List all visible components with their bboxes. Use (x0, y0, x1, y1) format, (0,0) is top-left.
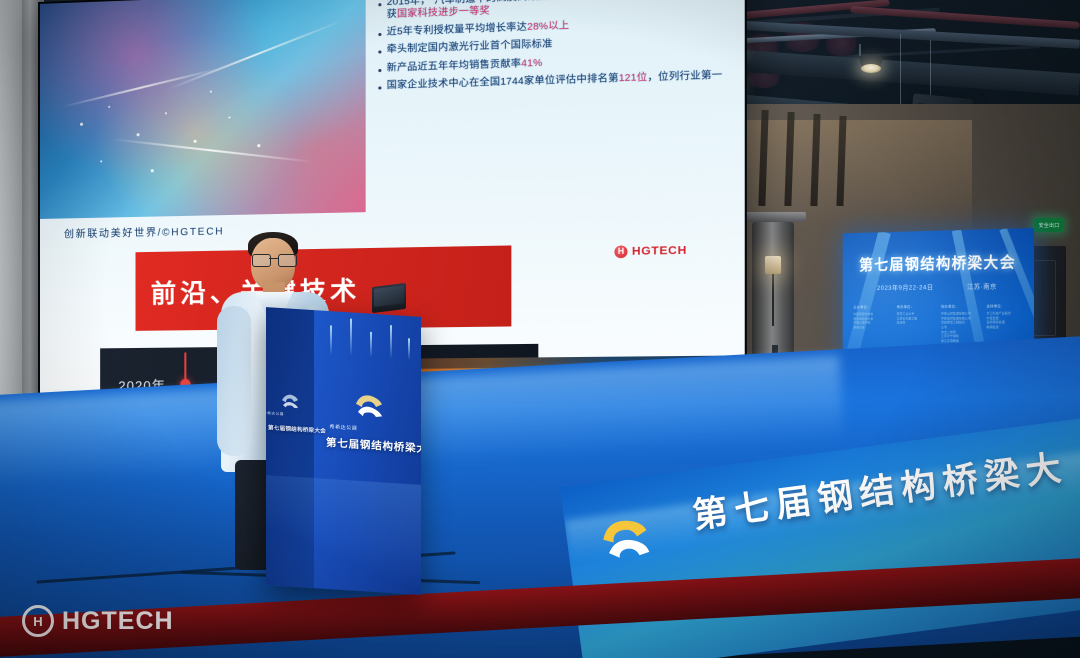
bullet-dot (378, 69, 381, 72)
podium: 希希达公展 第七届钢结构桥梁大会 希希达公展 第七届钢结构桥梁大会 (266, 307, 421, 595)
hgtech-watermark: H HGTECH (22, 605, 174, 637)
led-column-rows: 华工科技产业股份 中集集团 宝武钢铁集团 鞍钢集团 (986, 311, 1026, 330)
bullet-highlight: 国家科技进步一等奖 (397, 5, 490, 20)
slide-hgtech-logo: H HGTECH (614, 244, 687, 258)
led-column-header: 协办单位： (941, 304, 980, 309)
slide-tagline: 创新联动美好世界/©HGTECH (64, 222, 224, 240)
slide-hero-image (40, 0, 366, 219)
led-column-header: 支持单位： (986, 304, 1026, 309)
laptop-screen (374, 285, 404, 307)
led-organizer-column: 协办单位： 中铁山桥集团有限公司 中铁宝桥集团有限公司 武船重型工程股份 公司 … (941, 304, 980, 343)
led-organizer-column: 主办单位： 中国钢结构协会 桥梁钢结构分会 中国公路学会 桥梁分会 (853, 305, 890, 343)
exit-sign: 安全出口 (1034, 218, 1064, 232)
led-column-rows: 中铁山桥集团有限公司 中铁宝桥集团有限公司 武船重型工程股份 公司 中交二航局 … (941, 311, 980, 343)
hgtech-wordmark: HGTECH (632, 244, 687, 258)
hgtech-logo-icon: H (22, 605, 54, 637)
wall-sconce (765, 256, 781, 274)
bullet-dot (378, 33, 381, 36)
led-date: 2023年9月22-24日 (877, 281, 934, 291)
bullet-highlight: 28%以上 (527, 20, 569, 33)
bullet-dot (378, 86, 381, 89)
hgtech-watermark-text: HGTECH (62, 607, 174, 636)
column-capital (742, 212, 806, 222)
sconce-arm (772, 268, 774, 326)
led-organizer-column: 支持单位： 华工科技产业股份 中集集团 宝武钢铁集团 鞍钢集团 (986, 304, 1026, 343)
bullet-text: 近5年专利授权量平均增长率达 (387, 22, 527, 38)
conference-logo-icon (592, 507, 661, 571)
bullet-tail: ，位列行业第一 (647, 69, 722, 83)
podium-wave-graphic (266, 475, 421, 595)
podium-side-logo-icon (280, 392, 300, 411)
led-screen-title: 第七届钢结构桥梁大会 (851, 250, 1026, 275)
podium-title: 第七届钢结构桥梁大会 (326, 435, 421, 457)
hgtech-mark-icon: H (614, 245, 627, 258)
person-arm-left (217, 306, 251, 456)
led-column-rows: 南京工业大学 江苏省交通工程 建设局 (897, 312, 935, 326)
led-organizer-column: 承办单位： 南京工业大学 江苏省交通工程 建设局 (897, 305, 935, 343)
bullet-highlight: 121位 (619, 72, 648, 84)
led-column-rows: 中国钢结构协会 桥梁钢结构分会 中国公路学会 桥梁分会 (853, 312, 890, 330)
slide-bullet-list: 2015年，"汽车制造中的高质高效激光焊接、切割关键工艺及成套装备"项目获国家科… (378, 0, 736, 98)
led-column-header: 主办单位： (853, 305, 890, 310)
bullet-text: 新产品近五年年均销售贡献率 (387, 58, 521, 74)
glasses-icon (252, 254, 295, 265)
led-location: 江苏·南京 (967, 281, 997, 291)
conference-photo-scene: 安全出口 (0, 0, 1080, 658)
bullet-dot (378, 3, 381, 6)
bullet-text: 国家企业技术中心在全国1744家单位评估中排名第 (387, 73, 619, 92)
led-organizer-columns: 主办单位： 中国钢结构协会 桥梁钢结构分会 中国公路学会 桥梁分会 承办单位： … (853, 304, 1026, 343)
podium-logo-icon (352, 391, 386, 423)
bullet-text: 牵头制定国内激光行业首个国际标准 (387, 39, 553, 56)
bullet-dot (378, 51, 381, 54)
led-column-header: 承办单位： (897, 305, 935, 310)
laptop[interactable] (372, 283, 406, 313)
bullet-highlight: 41% (521, 57, 542, 69)
exit-sign-label: 安全出口 (1039, 222, 1060, 229)
